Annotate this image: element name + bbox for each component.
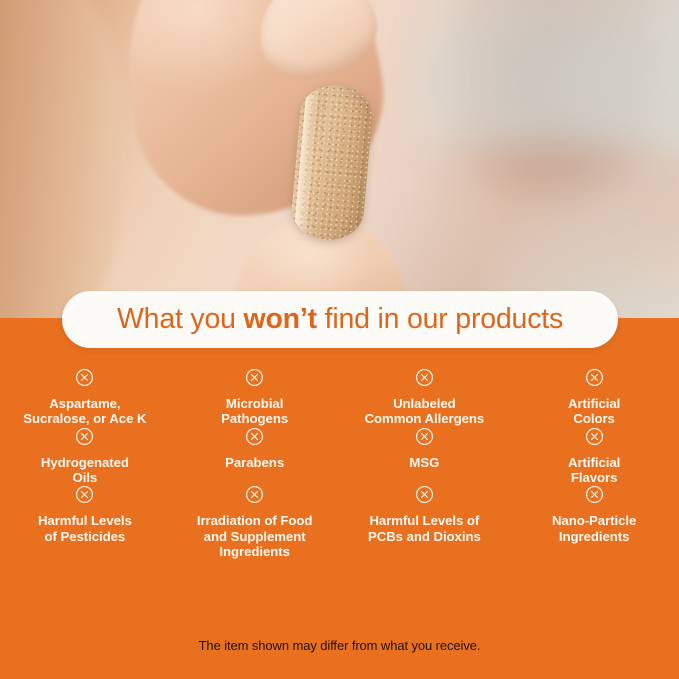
cell-label: Hydrogenated Oils (41, 455, 129, 486)
cell-label: Aspartame, Sucralose, or Ace K (23, 396, 146, 427)
cell-label-line: Artificial (568, 396, 620, 411)
product-photo (0, 0, 679, 319)
grid-cell: Artificial Colors (509, 368, 679, 427)
product-infographic-screen: What you won’t find in our products Aspa… (0, 0, 679, 679)
cell-label-line: MSG (409, 455, 439, 470)
cell-label-line: Nano-Particle (552, 513, 636, 528)
cell-label-line: Pathogens (221, 411, 288, 426)
circle-x-icon (585, 427, 604, 446)
cell-label-line: Artificial (568, 455, 620, 470)
cell-label-line: Sucralose, or Ace K (23, 411, 146, 426)
title-part-2: find in our products (317, 303, 563, 335)
grid-cell: Parabens (170, 427, 340, 486)
cell-label: Artificial Colors (568, 396, 620, 427)
cell-label-line: of Pesticides (38, 529, 132, 544)
circle-x-icon (585, 485, 604, 504)
title-part-1: What you (117, 303, 244, 335)
circle-x-icon (75, 368, 94, 387)
grid-cell: Aspartame, Sucralose, or Ace K (0, 368, 170, 427)
grid-cell: Irradiation of Food and Supplement Ingre… (170, 485, 340, 559)
circle-x-icon (245, 368, 264, 387)
cell-label: Artificial Flavors (568, 455, 620, 486)
banner-title-pill: What you won’t find in our products (62, 291, 618, 348)
cell-label: Microbial Pathogens (221, 396, 288, 427)
circle-x-icon (75, 485, 94, 504)
cell-label-line: PCBs and Dioxins (368, 529, 481, 544)
circle-x-icon (585, 368, 604, 387)
cell-label-line: Flavors (568, 470, 620, 485)
cell-label-line: Microbial (221, 396, 288, 411)
page-title: What you won’t find in our products (117, 305, 563, 334)
cell-label-line: Colors (568, 411, 620, 426)
cell-label: Nano-Particle Ingredients (552, 513, 636, 544)
cell-label: Irradiation of Food and Supplement Ingre… (197, 513, 313, 559)
circle-x-icon (245, 485, 264, 504)
cell-label-line: and Supplement (197, 529, 313, 544)
left-hand-blur (0, 0, 120, 319)
grid-cell: Harmful Levels of Pesticides (0, 485, 170, 559)
circle-x-icon (245, 427, 264, 446)
cell-label-line: Common Allergens (365, 411, 485, 426)
cell-label-line: Irradiation of Food (197, 513, 313, 528)
grid-cell: Hydrogenated Oils (0, 427, 170, 486)
circle-x-icon (415, 368, 434, 387)
exclusions-grid: Aspartame, Sucralose, or Ace K Microbial… (0, 368, 679, 559)
grid-cell: MSG (340, 427, 510, 486)
grid-cell: Microbial Pathogens (170, 368, 340, 427)
cell-label-line: Parabens (225, 455, 284, 470)
circle-x-icon (415, 427, 434, 446)
grid-cell: Nano-Particle Ingredients (509, 485, 679, 559)
cell-label-line: Ingredients (197, 544, 313, 559)
cell-label-line: Unlabeled (365, 396, 485, 411)
title-emphasis: won’t (244, 303, 317, 335)
cell-label-line: Aspartame, (23, 396, 146, 411)
cell-label-line: Harmful Levels of (368, 513, 481, 528)
grid-cell: Artificial Flavors (509, 427, 679, 486)
cell-label: Parabens (225, 455, 284, 470)
circle-x-icon (75, 427, 94, 446)
cell-label: Harmful Levels of PCBs and Dioxins (368, 513, 481, 544)
cell-label-line: Oils (41, 470, 129, 485)
cell-label: Harmful Levels of Pesticides (38, 513, 132, 544)
grid-cell: Unlabeled Common Allergens (340, 368, 510, 427)
cell-label-line: Harmful Levels (38, 513, 132, 528)
circle-x-icon (415, 485, 434, 504)
cell-label: MSG (409, 455, 439, 470)
cell-label: Unlabeled Common Allergens (365, 396, 485, 427)
disclaimer-text: The item shown may differ from what you … (0, 638, 679, 653)
cell-label-line: Hydrogenated (41, 455, 129, 470)
cell-label-line: Ingredients (552, 529, 636, 544)
supplement-tablet (289, 82, 374, 243)
photo-highlight-blur (409, 0, 679, 150)
grid-cell: Harmful Levels of PCBs and Dioxins (340, 485, 510, 559)
